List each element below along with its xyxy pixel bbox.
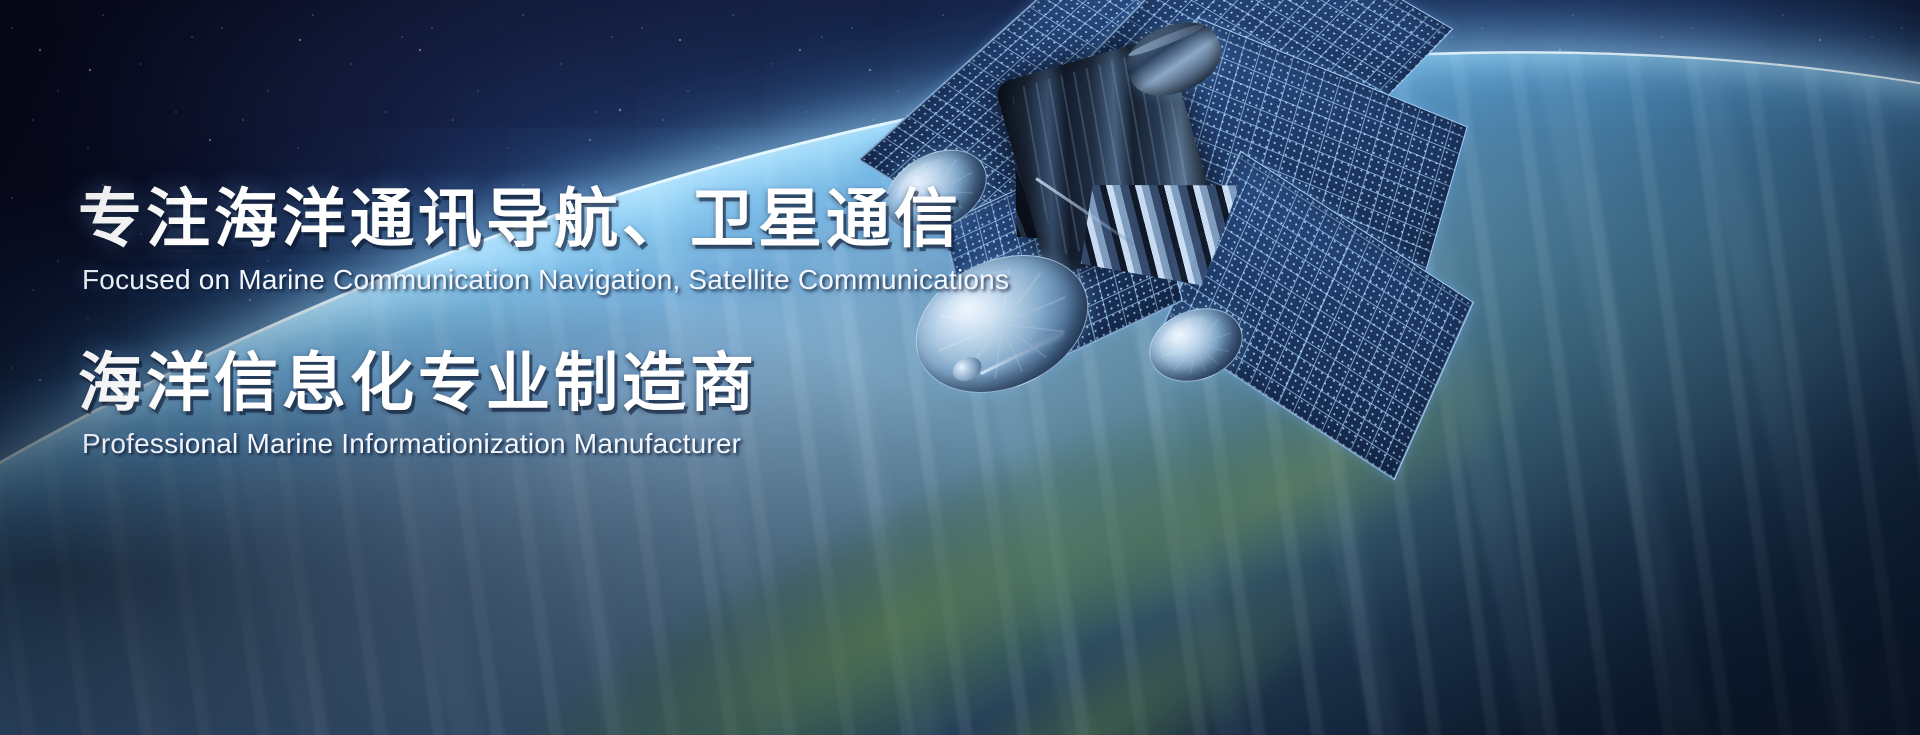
headline-primary: 专注海洋通讯导航、卫星通信 bbox=[78, 186, 1009, 254]
copy-block-secondary: 海洋信息化专业制造商 Professional Marine Informati… bbox=[78, 350, 1009, 460]
copy-block-primary: 专注海洋通讯导航、卫星通信 Focused on Marine Communic… bbox=[78, 186, 1009, 296]
banner-copy: 专注海洋通讯导航、卫星通信 Focused on Marine Communic… bbox=[78, 186, 1009, 460]
pointer-arrow-icon bbox=[432, 200, 439, 210]
headline-secondary: 海洋信息化专业制造商 bbox=[78, 350, 1009, 418]
subline-primary: Focused on Marine Communication Navigati… bbox=[82, 264, 1009, 296]
communications-satellite-icon bbox=[930, 0, 1570, 480]
hero-banner: 专注海洋通讯导航、卫星通信 Focused on Marine Communic… bbox=[0, 0, 1920, 735]
subline-secondary: Professional Marine Informationization M… bbox=[82, 428, 1009, 460]
